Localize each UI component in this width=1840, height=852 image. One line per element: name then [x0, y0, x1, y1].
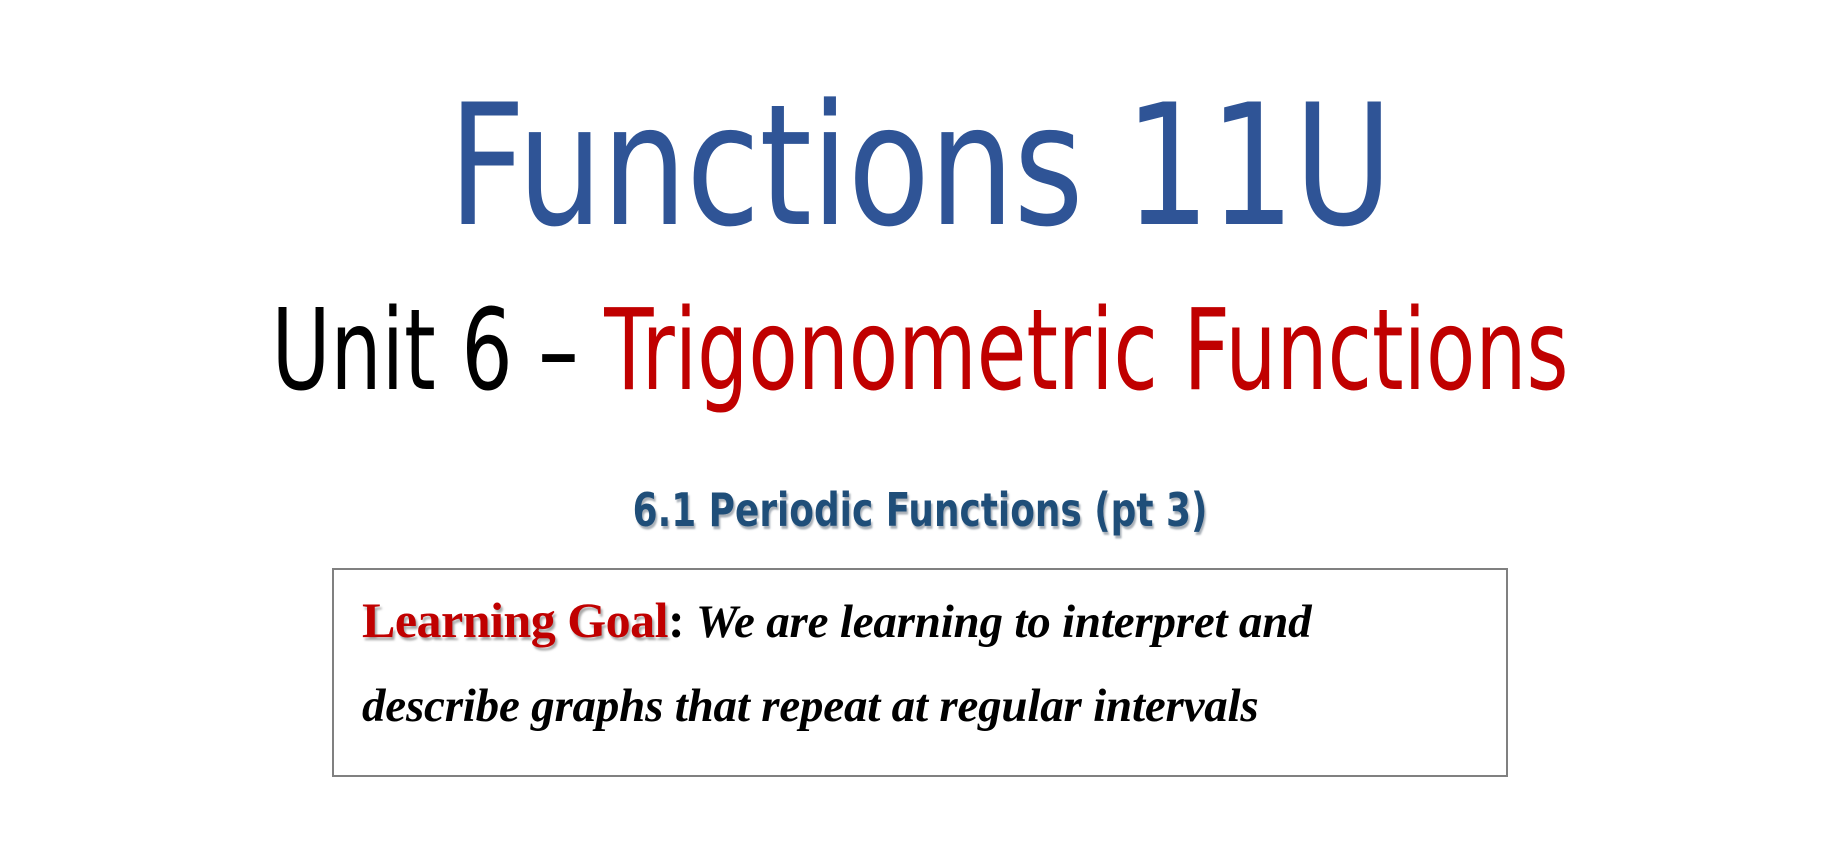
learning-goal-box: Learning Goal: We are learning to interp… — [332, 568, 1508, 777]
learning-goal-content: Learning Goal: We are learning to interp… — [362, 578, 1486, 748]
slide-lesson-subtitle: 6.1 Periodic Functions (pt 3) — [202, 484, 1637, 537]
learning-goal-text-line2: describe graphs that repeat at regular i… — [362, 664, 1486, 748]
slide-canvas: Functions 11U Unit 6 – Trigonometric Fun… — [0, 0, 1840, 852]
learning-goal-colon: : — [668, 592, 685, 648]
slide-unit-title: Unit 6 – Trigonometric Functions — [258, 290, 1583, 413]
unit-topic-label: Trigonometric Functions — [604, 286, 1568, 416]
learning-goal-text-line1: We are learning to interpret and — [696, 596, 1312, 648]
learning-goal-label: Learning Goal — [362, 592, 668, 648]
unit-label: Unit 6 – — [272, 286, 605, 416]
slide-main-title: Functions 11U — [184, 78, 1656, 254]
